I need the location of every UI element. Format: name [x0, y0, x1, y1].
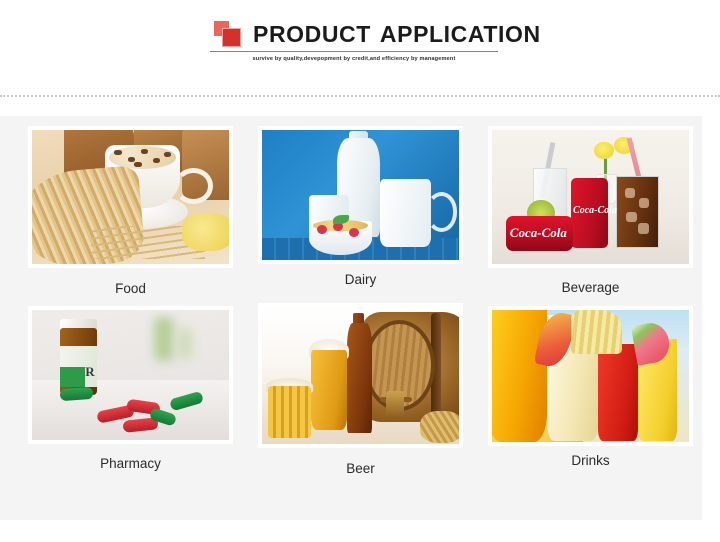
card-thumb-drinks[interactable]: [488, 306, 693, 446]
title-block: PRODUCTAPPLICATION survive by quality,de…: [210, 20, 510, 62]
title-row: PRODUCTAPPLICATION: [210, 20, 510, 48]
yellow-flower: [594, 142, 614, 159]
bottle-label-green-band: [60, 367, 86, 388]
page-title: PRODUCTAPPLICATION: [253, 23, 541, 46]
can-logo-text: Coca-Cola: [510, 225, 567, 241]
berry: [349, 228, 359, 237]
image-drinks: [492, 310, 689, 442]
card-dairy[interactable]: Dairy: [258, 126, 463, 296]
orange-juice-glass: [492, 310, 547, 442]
pineapple-garnish: [571, 310, 622, 355]
title-underline-rule: [210, 51, 498, 52]
ice-cube: [626, 212, 637, 223]
green-capsule: [59, 386, 93, 400]
product-application-grid: Food: [28, 126, 688, 475]
mint-leaf: [333, 215, 349, 224]
card-food[interactable]: Food: [28, 126, 233, 296]
wheat-sheaf: [420, 411, 459, 444]
content-panel: Food: [0, 116, 702, 520]
logo-square-dark: [222, 28, 241, 47]
card-thumb-dairy[interactable]: [258, 126, 463, 264]
card-beer[interactable]: Beer: [258, 306, 463, 476]
grid-row-bottom: R Pharmacy: [28, 306, 688, 476]
card-label-food: Food: [28, 282, 233, 296]
two-red-squares-logo-icon: [214, 20, 244, 48]
beer-bottle: [347, 323, 373, 433]
milk-jug: [380, 179, 431, 247]
card-thumb-food[interactable]: [28, 126, 233, 268]
image-dairy: [262, 130, 459, 260]
card-thumb-beverage[interactable]: Coca-Cola Coca-Cola: [488, 126, 693, 268]
image-food: [32, 130, 229, 264]
coca-cola-can-lying: Coca-Cola: [506, 216, 573, 251]
corn-kernels: [182, 213, 229, 251]
page-title-word-2: APPLICATION: [380, 21, 541, 47]
slide-footer-area: [0, 520, 720, 542]
background-blur-object: [178, 328, 192, 359]
grid-row-top: Food: [28, 126, 688, 296]
image-pharmacy: R: [32, 310, 229, 440]
card-drinks[interactable]: Drinks: [488, 306, 693, 476]
rx-letter: R: [85, 364, 94, 380]
card-label-dairy: Dairy: [258, 273, 463, 287]
card-pharmacy[interactable]: R Pharmacy: [28, 306, 233, 476]
image-beer: [262, 307, 459, 444]
beer-mug: [268, 386, 311, 438]
background-blur-object: [154, 317, 174, 361]
card-label-drinks: Drinks: [488, 454, 693, 468]
ice-cube: [638, 223, 649, 234]
can-logo-text: Coca-Cola: [573, 205, 617, 216]
card-beverage[interactable]: Coca-Cola Coca-Cola Beverage: [488, 126, 693, 296]
page-title-word-1: PRODUCT: [253, 21, 371, 47]
coca-cola-can-upright: Coca-Cola: [571, 178, 608, 248]
image-beverage: Coca-Cola Coca-Cola: [492, 130, 689, 264]
milk-jug-handle: [426, 192, 458, 231]
card-label-beer: Beer: [258, 462, 463, 476]
ice-cube: [625, 188, 636, 199]
barrel-tap: [386, 391, 404, 418]
glass-of-cola: [616, 176, 659, 248]
header-divider: [0, 95, 720, 97]
slide-header: PRODUCTAPPLICATION survive by quality,de…: [0, 0, 720, 96]
page-subtitle: survive by quality,devepopment by credit…: [210, 56, 498, 62]
red-juice-glass: [598, 344, 637, 442]
card-label-pharmacy: Pharmacy: [28, 457, 233, 471]
card-thumb-pharmacy[interactable]: R: [28, 306, 233, 444]
card-thumb-beer[interactable]: [258, 303, 463, 448]
beer-glass: [311, 350, 346, 429]
ice-cube: [639, 198, 650, 209]
card-label-beverage: Beverage: [488, 281, 693, 295]
berry: [317, 225, 327, 234]
